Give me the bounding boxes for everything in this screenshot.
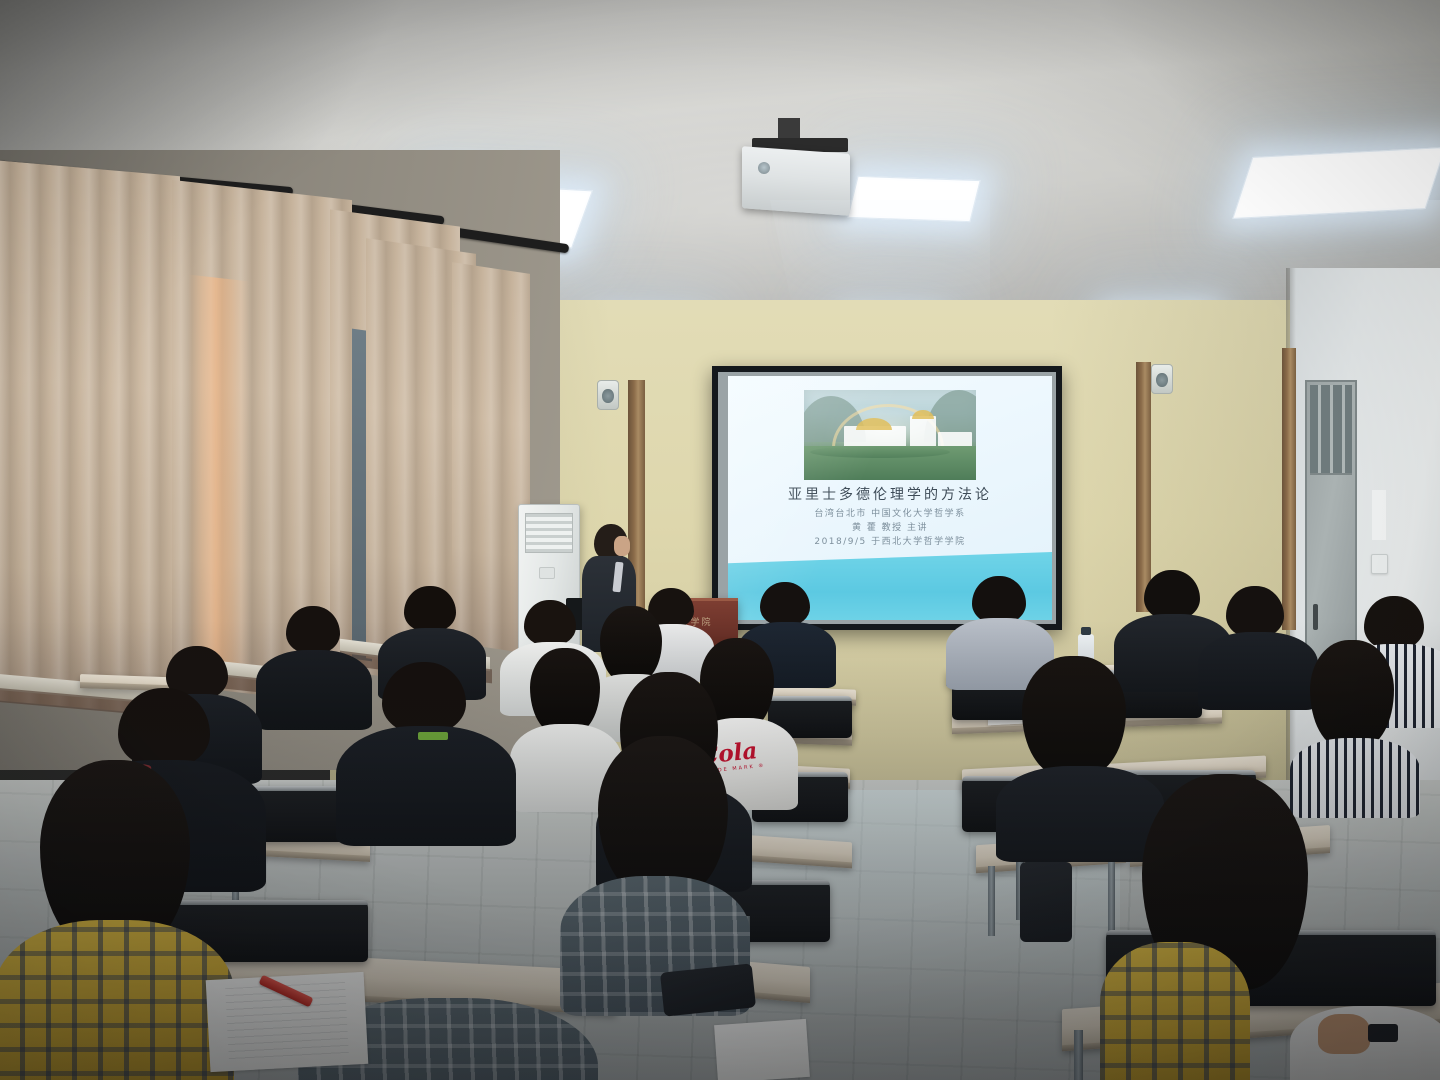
- door-handle[interactable]: [1313, 604, 1318, 630]
- wall-trim-strip: [1136, 362, 1151, 612]
- collar-detail: [418, 732, 448, 740]
- classroom-door[interactable]: [1305, 380, 1357, 680]
- head: [972, 576, 1026, 624]
- head: [118, 688, 210, 768]
- hand: [1318, 1014, 1370, 1054]
- torso: [1290, 738, 1420, 818]
- wall-speaker: [597, 380, 619, 410]
- hair: [598, 736, 728, 896]
- desk-leg: [988, 866, 995, 936]
- head: [760, 582, 810, 626]
- light-switch-plate[interactable]: [1371, 554, 1388, 574]
- handout-paper: [714, 1019, 810, 1080]
- window-curtain: [0, 160, 180, 717]
- desk-leg: [1108, 862, 1115, 932]
- hair: [346, 822, 546, 1022]
- torso: [1198, 632, 1318, 710]
- mobile-phone[interactable]: [1368, 1024, 1398, 1042]
- torso: [1100, 942, 1250, 1080]
- head: [1144, 570, 1200, 620]
- wall-trim-strip: [1282, 348, 1296, 630]
- torso: [0, 920, 234, 1080]
- hair: [1022, 656, 1126, 776]
- backpack: [1020, 862, 1072, 942]
- wall-notice: [1372, 490, 1386, 540]
- head: [1364, 596, 1424, 650]
- head: [404, 586, 456, 632]
- head: [382, 662, 466, 734]
- ceiling-light-panel: [1232, 147, 1440, 219]
- curtain-sunlight-streak: [188, 275, 250, 672]
- ac-control-panel[interactable]: [539, 567, 555, 579]
- presenter-face: [614, 536, 630, 556]
- torso: [256, 650, 372, 730]
- door-transom-window: [1310, 385, 1352, 475]
- hair: [1310, 640, 1394, 748]
- ac-vent: [525, 513, 573, 553]
- desk-leg: [1074, 1030, 1083, 1080]
- head: [286, 606, 340, 654]
- head: [524, 600, 576, 646]
- projector-lens: [758, 162, 770, 174]
- hair: [600, 606, 662, 682]
- wall-speaker: [1151, 364, 1173, 394]
- torso: [996, 766, 1164, 862]
- hair: [530, 648, 600, 734]
- lecture-hall-photo: 亚里士多德伦理学的方法论 台湾台北市 中国文化大学哲学系 黄 藿 教授 主讲 2…: [0, 0, 1440, 1080]
- head: [1226, 586, 1284, 638]
